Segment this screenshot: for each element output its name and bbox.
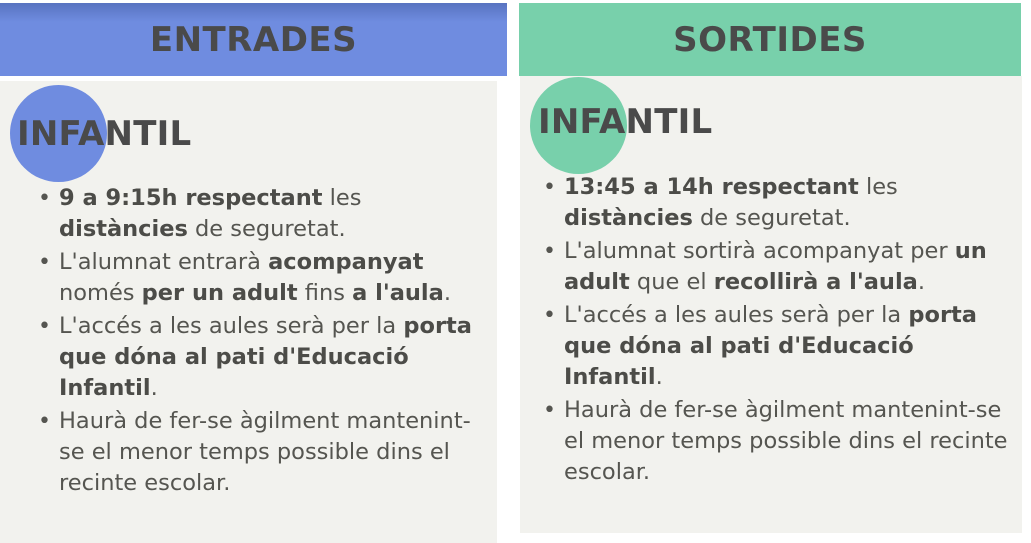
panel-header-sortides: SORTIDES <box>519 3 1021 76</box>
panel-body-sortides: INFANTIL 13:45 a 14h respectant les dist… <box>520 76 1022 533</box>
list-item: 13:45 a 14h respectant les distàncies de… <box>538 172 1020 234</box>
text-run: de seguretat. <box>188 216 346 242</box>
text-emphasis: 13:45 a 14h respectant <box>564 174 859 200</box>
text-run: . <box>444 280 451 306</box>
text-run: fins <box>298 280 352 306</box>
list-item: L'accés a les aules serà per la porta qu… <box>33 311 483 404</box>
text-run: que el <box>630 269 714 295</box>
text-run: Haurà de fer-se àgilment mantenint-se el… <box>564 397 1008 485</box>
text-run: L'accés a les aules serà per la <box>564 302 908 328</box>
list-item: L'alumnat sortirà acompanyat per un adul… <box>538 236 1020 298</box>
panel-header-entrades: ENTRADES <box>0 3 507 76</box>
panel-title-entrades: ENTRADES <box>150 20 357 60</box>
text-emphasis: distàncies <box>59 216 188 242</box>
text-run: L'alumnat entrarà <box>59 249 268 275</box>
text-run: només <box>59 280 142 306</box>
section-heading-infantil-sortides: INFANTIL <box>538 102 712 142</box>
list-item: 9 a 9:15h respectant les distàncies de s… <box>33 183 483 245</box>
bullet-list-sortides: 13:45 a 14h respectant les distàncies de… <box>538 172 1020 490</box>
text-emphasis: per un adult <box>142 280 298 306</box>
panel-title-sortides: SORTIDES <box>673 20 867 60</box>
text-run: Haurà de fer-se àgilment mantenint-se el… <box>59 408 471 496</box>
text-run: de seguretat. <box>693 205 851 231</box>
list-item: L'alumnat entrarà acompanyat només per u… <box>33 247 483 309</box>
list-item: L'accés a les aules serà per la porta qu… <box>538 300 1020 393</box>
section-heading-infantil-entrades: INFANTIL <box>17 114 191 154</box>
list-item: Haurà de fer-se àgilment mantenint-se el… <box>33 406 483 499</box>
list-item: Haurà de fer-se àgilment mantenint-se el… <box>538 395 1020 488</box>
text-run: les <box>323 185 362 211</box>
text-emphasis: 9 a 9:15h respectant <box>59 185 323 211</box>
text-run: L'alumnat sortirà acompanyat per <box>564 238 955 264</box>
text-run: les <box>859 174 898 200</box>
text-run: L'accés a les aules serà per la <box>59 313 403 339</box>
text-emphasis: a l'aula <box>352 280 444 306</box>
text-run: . <box>918 269 925 295</box>
text-emphasis: recollirà a l'aula <box>714 269 918 295</box>
entrades-sortides-board: ENTRADES INFANTIL 9 a 9:15h respectant l… <box>0 0 1031 543</box>
text-emphasis: distàncies <box>564 205 693 231</box>
text-run: . <box>151 375 158 401</box>
panel-body-entrades: INFANTIL 9 a 9:15h respectant les distàn… <box>0 81 497 543</box>
bullet-list-entrades: 9 a 9:15h respectant les distàncies de s… <box>33 183 483 501</box>
text-run: . <box>656 364 663 390</box>
text-emphasis: acompanyat <box>268 249 423 275</box>
